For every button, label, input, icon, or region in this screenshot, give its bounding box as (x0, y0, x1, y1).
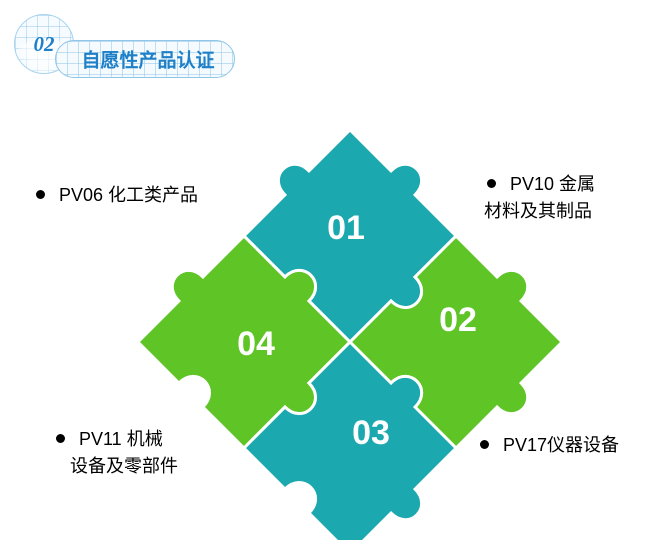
header: 02 自愿性产品认证 (0, 0, 250, 92)
callout-pv11-line-2: 设备及零部件 (70, 453, 178, 480)
page-title: 自愿性产品认证 (56, 46, 234, 73)
callout-pv11-text-1: PV11 机械 (79, 429, 163, 449)
callout-pv06-text-1: PV06 化工类产品 (59, 185, 198, 205)
puzzle-piece-03-number: 03 (352, 414, 390, 452)
callout-pv17-text-1: PV17仪器设备 (503, 435, 619, 455)
puzzle-piece-04-number: 04 (237, 325, 275, 363)
callout-pv11: PV11 机械 设备及零部件 (56, 426, 178, 480)
section-title-banner: 自愿性产品认证 (55, 40, 235, 78)
callout-pv06: PV06 化工类产品 (36, 182, 198, 209)
puzzle-piece-02-number: 02 (439, 301, 477, 339)
callout-pv06-line-1: PV06 化工类产品 (36, 182, 198, 209)
bullet-dot-icon (487, 179, 496, 188)
puzzle-piece-01-number: 01 (327, 209, 365, 247)
bullet-dot-icon (36, 190, 45, 199)
callout-pv17-line-1: PV17仪器设备 (480, 432, 619, 459)
callout-pv10: PV10 金属 材料及其制品 (487, 171, 595, 225)
callout-pv11-line-1: PV11 机械 (56, 426, 178, 453)
jigsaw-puzzle-diagram: 01 02 03 04 (140, 100, 560, 540)
callout-pv10-text-1: PV10 金属 (510, 174, 595, 194)
callout-pv10-line-1: PV10 金属 (487, 171, 595, 198)
callout-pv17: PV17仪器设备 (480, 432, 619, 459)
callout-pv10-line-2: 材料及其制品 (484, 198, 595, 225)
bullet-dot-icon (480, 440, 489, 449)
bullet-dot-icon (56, 434, 65, 443)
